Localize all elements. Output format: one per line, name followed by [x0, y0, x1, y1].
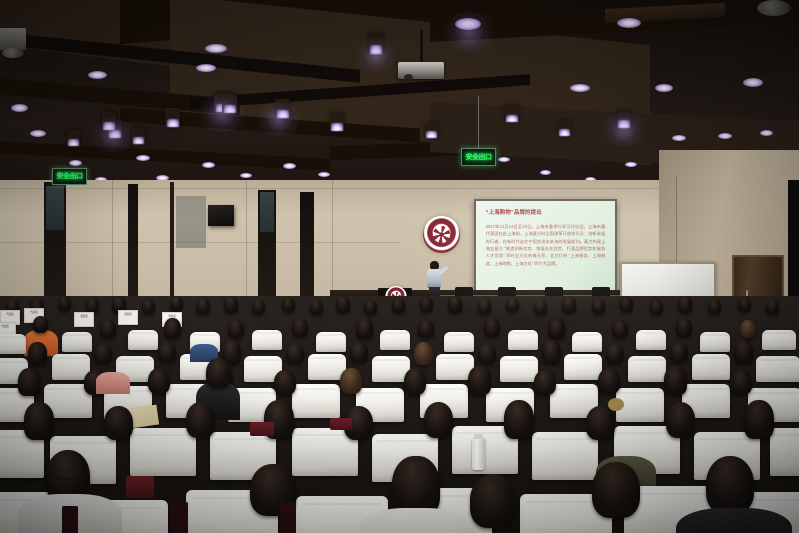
ceiling-light: [505, 105, 519, 122]
university-seal-wall: [423, 216, 460, 253]
audience-head: [448, 296, 462, 313]
audience-head: [676, 318, 692, 337]
seat-back-red: [126, 476, 154, 498]
ceiling-light: [570, 84, 590, 92]
projection-screen: “上海购物”品牌的提出 2017年12月14日至15日，上海市委举行学习讨论会。…: [474, 199, 617, 295]
lecture-seat[interactable]: [62, 332, 92, 352]
audience-head: [142, 299, 155, 314]
exit-sign-center[interactable]: 安全出口: [461, 148, 496, 166]
audience-head: [484, 318, 500, 337]
ceiling-light: [540, 170, 551, 175]
slide-body: 2017年12月14日至15日，上海市委举行学习讨论会。上海市委代表团在赴上海前…: [486, 223, 606, 267]
exit-sign-stem: [478, 96, 479, 148]
audience-head: [612, 320, 628, 338]
audience-head: [252, 299, 265, 314]
audience-head: [706, 456, 754, 514]
lecture-seat[interactable]: [700, 332, 730, 352]
ceiling-light: [655, 84, 673, 92]
audience-head: [468, 366, 491, 395]
lecture-hall-photo: 安全出口 安全出口 “上海购物”品牌的提出 2017年12月14日至15日，上海…: [0, 0, 799, 533]
lecture-seat[interactable]: [130, 428, 196, 476]
audience-head: [592, 299, 605, 314]
seat-gap: [62, 506, 78, 533]
ceiling-light: [69, 160, 82, 166]
lecture-seat[interactable]: [692, 354, 730, 380]
audience-head: [418, 320, 434, 338]
audience-head: [340, 368, 362, 394]
audience-head: [738, 297, 751, 312]
wall-speaker: [208, 205, 234, 226]
audience-head: [562, 296, 576, 313]
seat-gap: [280, 502, 296, 533]
ceiling-light: [88, 71, 107, 79]
eyeglasses: [56, 478, 82, 480]
audience-head: [470, 474, 516, 528]
audience-head: [24, 402, 54, 440]
audience-head: [18, 368, 41, 396]
audience-head: [606, 344, 624, 364]
ceiling-light: [222, 93, 237, 113]
projection-screen-surface: “上海购物”品牌的提出 2017年12月14日至15日，上海市委举行学习讨论会。…: [476, 201, 615, 293]
audience-head: [766, 300, 779, 315]
seat-placard-label: 代表席: [0, 325, 13, 329]
lecture-seat[interactable]: [564, 354, 602, 380]
audience-head: [420, 297, 433, 312]
lecture-seat[interactable]: [444, 332, 474, 352]
lecture-seat[interactable]: [252, 330, 282, 350]
audience-head: [336, 296, 350, 313]
audience-area: 代表席 代表席 代表席 嘉宾席 嘉宾席 代表席: [0, 296, 799, 533]
audience-head: [478, 299, 491, 314]
ceiling-vent-left: [0, 28, 26, 50]
ceiling-slab-h: [0, 141, 330, 170]
ceiling-light: [11, 104, 28, 112]
audience-head: [666, 402, 695, 438]
ceiling-light: [672, 135, 686, 141]
ceiling-light: [205, 44, 227, 53]
audience-head: [364, 300, 377, 315]
ceiling-light: [67, 130, 80, 146]
audience-head: [58, 296, 71, 311]
audience-shoulders: [676, 508, 792, 533]
seat-placard-label: 代表席: [27, 311, 41, 315]
audience-head: [28, 342, 47, 365]
left-doorway-1-glass: [46, 186, 64, 230]
lecture-seat[interactable]: [770, 428, 799, 476]
audience-shoulders: [96, 372, 130, 394]
ceiling-light: [425, 122, 438, 138]
lecture-seat[interactable]: [500, 356, 538, 382]
ceiling-light: [625, 162, 637, 167]
audience-head: [534, 300, 547, 315]
audience-head: [650, 300, 663, 315]
audience-head: [228, 320, 244, 338]
ceiling-light: [330, 113, 344, 131]
lecture-seat[interactable]: [628, 356, 666, 382]
audience-head: [292, 318, 308, 337]
left-doorway-3-glass: [260, 192, 274, 232]
audience-head: [104, 406, 133, 440]
ceiling-vent-right: [757, 0, 791, 16]
ceiling-light: [368, 32, 384, 54]
audience-head: [664, 366, 687, 395]
audience-head: [350, 342, 368, 363]
ceiling-light: [617, 18, 641, 28]
ceiling-light: [240, 173, 252, 178]
audience-head: [534, 370, 556, 395]
exit-sign-label: 安全出口: [466, 154, 492, 161]
audience-head: [310, 300, 323, 315]
projector-mount: [420, 30, 423, 64]
lecture-seat[interactable]: [508, 330, 538, 350]
water-bottle-cap: [474, 434, 483, 439]
seat-back-red: [330, 418, 352, 430]
left-doorway-4[interactable]: [300, 192, 314, 312]
audience-head: [392, 456, 440, 516]
audience-head: [186, 402, 215, 438]
audience-head: [670, 342, 688, 363]
lecture-seat[interactable]: [0, 334, 26, 354]
seat-gap: [170, 502, 188, 533]
audience-head: [282, 297, 295, 312]
ceiling-light: [455, 18, 481, 30]
seat-placard-label: 嘉宾席: [77, 315, 91, 319]
seat-placard-label: 嘉宾席: [121, 313, 135, 317]
audience-head: [678, 296, 692, 313]
audience-head: [100, 320, 116, 338]
exit-sign-left[interactable]: 安全出口: [52, 168, 87, 185]
lecture-seat[interactable]: [572, 332, 602, 352]
audience-head: [478, 344, 496, 364]
audience-head: [286, 344, 304, 364]
ceiling-light: [318, 172, 330, 177]
lecture-seat[interactable]: [128, 330, 158, 350]
audience-head: [33, 316, 48, 333]
audience-head: [86, 298, 99, 313]
ceiling-speaker-left: [2, 48, 24, 58]
audience-head: [158, 342, 176, 363]
audience-head: [414, 342, 433, 365]
slide-title: “上海购物”品牌的提出: [486, 208, 542, 216]
lecture-seat[interactable]: [756, 356, 799, 382]
audience-head: [744, 400, 774, 439]
audience-head: [586, 406, 615, 440]
hair-bun: [608, 398, 624, 411]
seat-placard: 嘉宾席: [118, 310, 138, 325]
lecture-seat[interactable]: [292, 384, 340, 418]
seat-placard-label: 代表席: [3, 313, 17, 317]
ceiling-light: [132, 128, 145, 144]
audience-head: [592, 462, 640, 518]
seat-back-red: [250, 422, 274, 436]
audience-head: [506, 297, 519, 312]
audience-head: [404, 368, 426, 395]
ceiling-light: [196, 64, 216, 72]
water-bottle[interactable]: [472, 438, 485, 470]
seat-placard: 嘉宾席: [74, 312, 94, 327]
ceiling-light: [558, 120, 571, 136]
audience-head: [542, 340, 561, 364]
audience-head: [620, 297, 633, 312]
ceiling-light: [102, 112, 116, 130]
audience-head: [504, 400, 534, 439]
ceiling-light: [617, 110, 631, 128]
audience-head: [170, 296, 183, 311]
lecture-seat[interactable]: [532, 432, 598, 480]
audience-head: [224, 296, 238, 313]
lecture-seat[interactable]: [380, 330, 410, 350]
audience-head: [274, 370, 296, 395]
left-wall-recess: [170, 182, 174, 302]
ceiling-light: [760, 130, 773, 136]
audience-head: [148, 368, 170, 394]
audience-head: [206, 358, 231, 388]
ceiling-light: [275, 99, 290, 118]
audience-head: [548, 318, 565, 339]
ceiling-light: [498, 157, 510, 162]
ceiling-light: [202, 162, 215, 168]
exit-sign-label: 安全出口: [57, 173, 83, 180]
projector-lens-icon: [404, 74, 413, 80]
ceiling-light: [718, 133, 732, 139]
audience-head: [94, 344, 112, 364]
audience-head: [392, 298, 405, 313]
lecture-seat[interactable]: [316, 332, 346, 352]
ceiling-light: [743, 78, 763, 87]
audience-head: [164, 318, 181, 339]
audience-head: [708, 299, 721, 314]
audience-head: [598, 368, 620, 394]
presenter-hand: [446, 263, 450, 267]
ceiling-light: [136, 155, 150, 161]
audience-head: [730, 370, 752, 395]
eyeglasses: [712, 492, 738, 494]
ceiling-light: [283, 163, 296, 169]
lecture-seat[interactable]: [636, 330, 666, 350]
audience-shoulders: [360, 508, 470, 533]
audience-head: [740, 320, 756, 338]
back-window: [176, 196, 206, 248]
audience-head: [734, 340, 753, 364]
audience-head: [356, 318, 373, 339]
lecture-seat[interactable]: [762, 330, 796, 350]
ceiling-light: [30, 130, 46, 137]
ceiling-light: [165, 108, 180, 127]
audience-head: [424, 402, 453, 438]
audience-head: [196, 298, 210, 314]
